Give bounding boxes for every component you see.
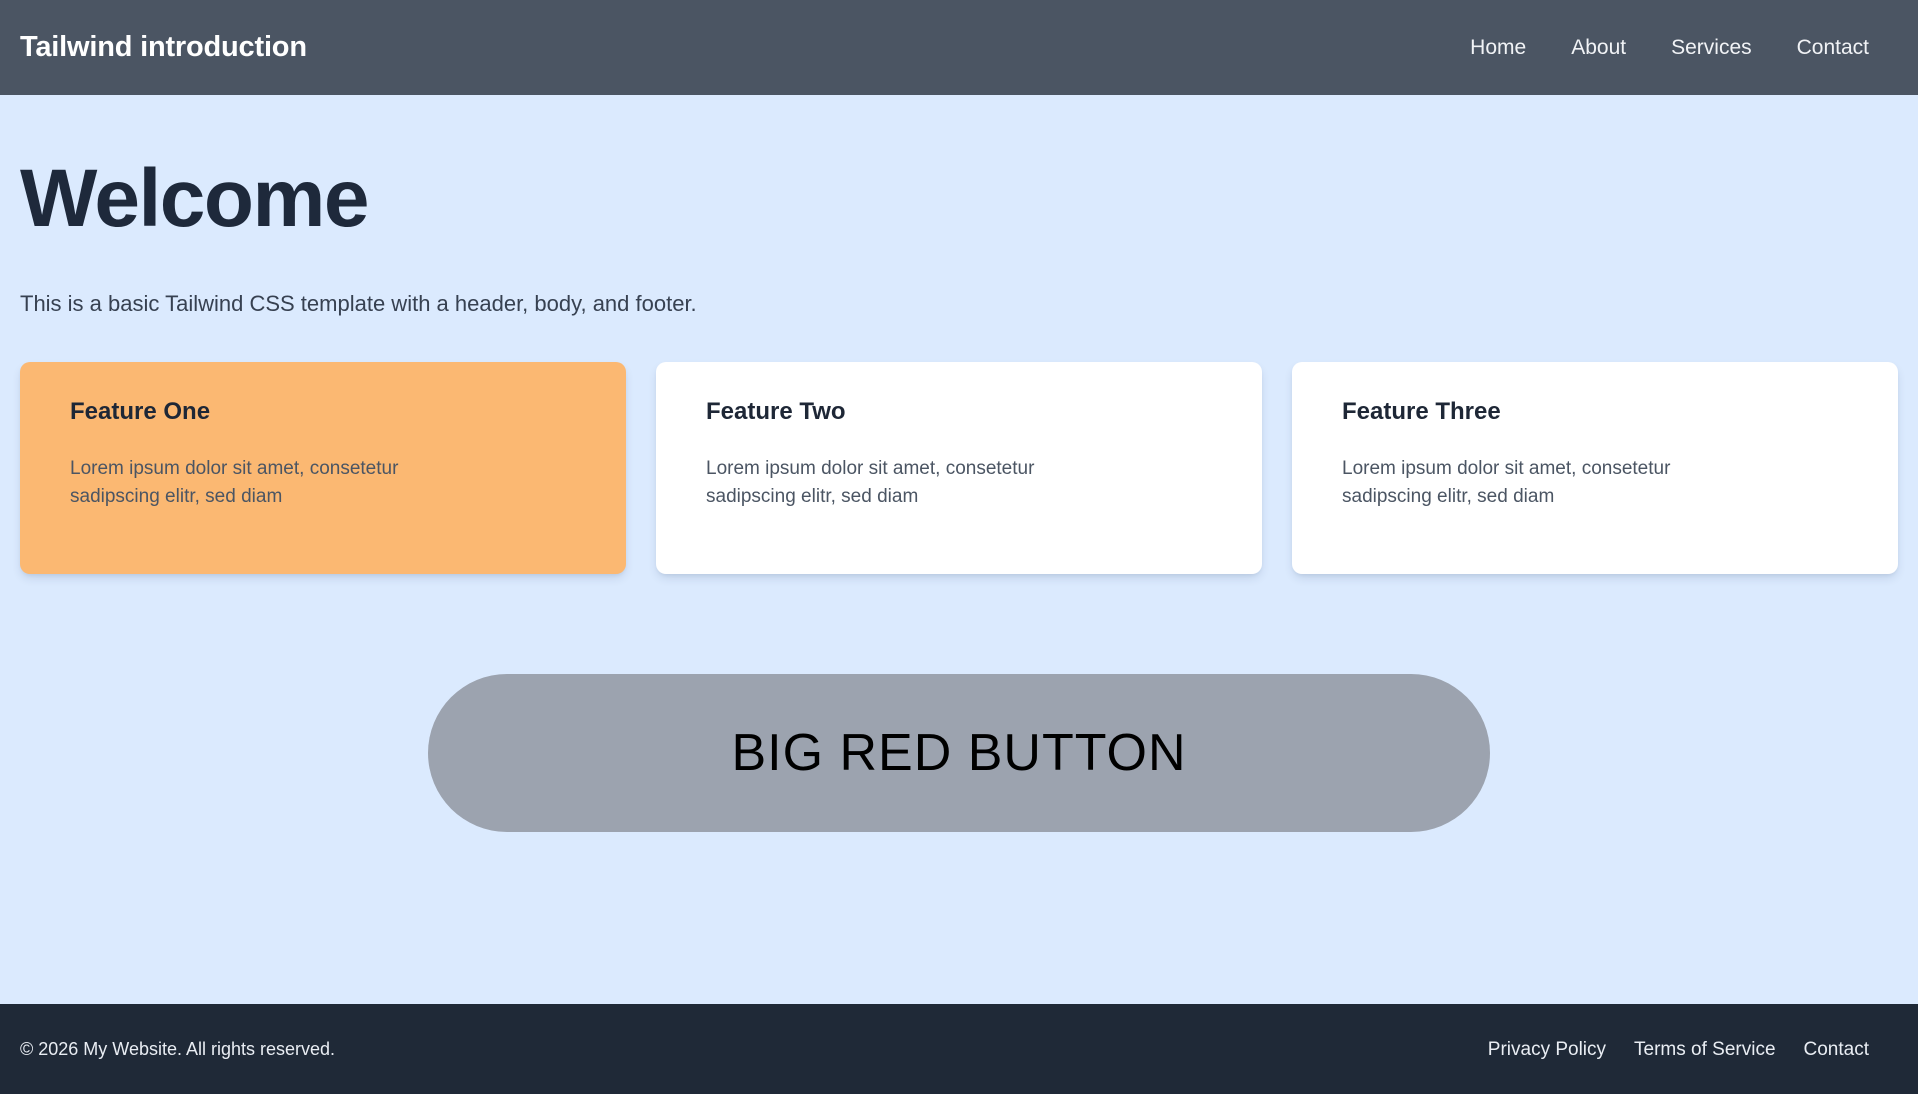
feature-card-one-text: Lorem ipsum dolor sit amet, consetetur s…	[70, 455, 490, 510]
feature-card-two[interactable]: Feature Two Lorem ipsum dolor sit amet, …	[656, 362, 1262, 574]
nav-link-contact[interactable]: Contact	[1797, 37, 1869, 58]
feature-card-one-title: Feature One	[70, 400, 586, 424]
main-content: Welcome This is a basic Tailwind CSS tem…	[0, 95, 1918, 1004]
cta-section: BIG RED BUTTON	[20, 574, 1898, 832]
feature-card-three[interactable]: Feature Three Lorem ipsum dolor sit amet…	[1292, 362, 1898, 574]
main-navigation: Home About Services Contact	[1470, 37, 1894, 58]
site-header: Tailwind introduction Home About Service…	[0, 0, 1918, 95]
page-title: Welcome	[20, 95, 1898, 240]
feature-card-grid: Feature One Lorem ipsum dolor sit amet, …	[20, 315, 1898, 574]
site-footer: © 2026 My Website. All rights reserved. …	[0, 1004, 1918, 1094]
feature-card-three-text: Lorem ipsum dolor sit amet, consetetur s…	[1342, 455, 1762, 510]
footer-navigation: Privacy Policy Terms of Service Contact	[1488, 1040, 1894, 1059]
brand-title: Tailwind introduction	[20, 33, 307, 62]
feature-card-two-title: Feature Two	[706, 400, 1222, 424]
feature-card-three-title: Feature Three	[1342, 400, 1858, 424]
nav-link-about[interactable]: About	[1571, 37, 1626, 58]
footer-link-privacy-policy[interactable]: Privacy Policy	[1488, 1040, 1606, 1059]
feature-card-two-text: Lorem ipsum dolor sit amet, consetetur s…	[706, 455, 1126, 510]
big-red-button[interactable]: BIG RED BUTTON	[428, 674, 1490, 832]
nav-link-services[interactable]: Services	[1671, 37, 1752, 58]
footer-link-contact[interactable]: Contact	[1804, 1040, 1869, 1059]
nav-link-home[interactable]: Home	[1470, 37, 1526, 58]
feature-card-one[interactable]: Feature One Lorem ipsum dolor sit amet, …	[20, 362, 626, 574]
copyright-text: © 2026 My Website. All rights reserved.	[20, 1040, 335, 1058]
page-subtitle: This is a basic Tailwind CSS template wi…	[20, 240, 1898, 315]
footer-link-terms-of-service[interactable]: Terms of Service	[1634, 1040, 1775, 1059]
